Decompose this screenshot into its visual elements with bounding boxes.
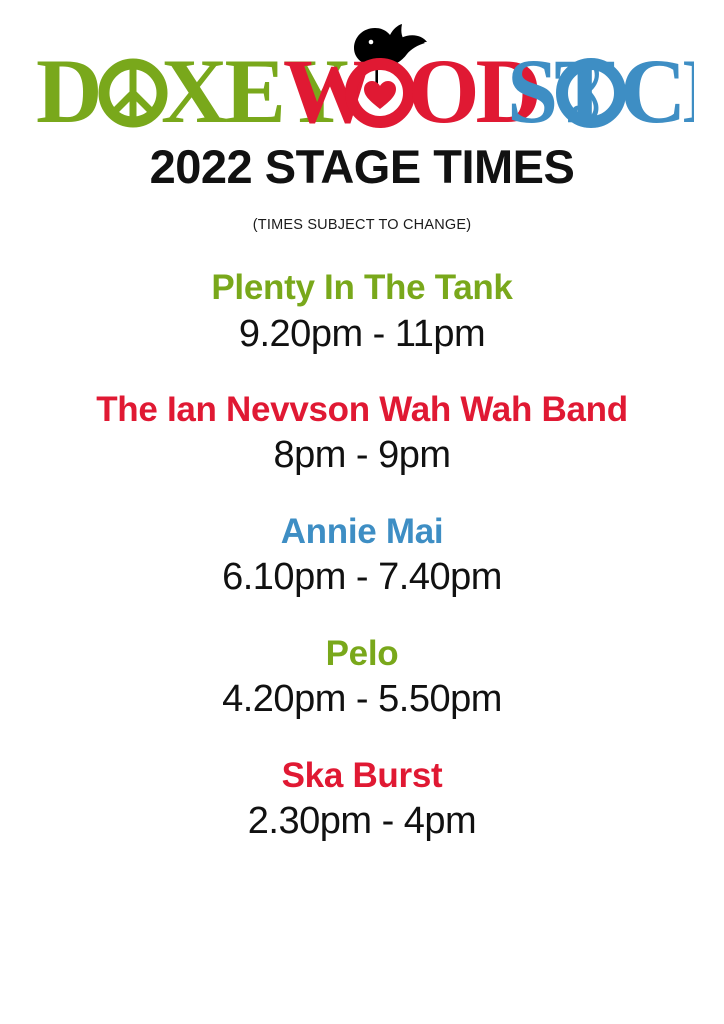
peace-symbol-icon [104, 64, 162, 122]
act-time: 6.10pm - 7.40pm [0, 554, 724, 602]
poster-canvas: D XEY W OD [0, 0, 724, 1024]
list-item: Annie Mai 6.10pm - 7.40pm [0, 511, 724, 602]
logo-doxey-text: D [36, 40, 100, 130]
logo-word-wood: W OD [283, 40, 538, 130]
page-title: 2022 STAGE TIMES [0, 142, 724, 191]
logo-word-stock: ST CK [507, 40, 694, 130]
act-name: Pelo [0, 633, 724, 674]
act-name: Annie Mai [0, 511, 724, 552]
act-time: 8pm - 9pm [0, 432, 724, 480]
list-item: Ska Burst 2.30pm - 4pm [0, 755, 724, 846]
list-item: The Ian Nevvson Wah Wah Band 8pm - 9pm [0, 389, 724, 480]
act-name: Ska Burst [0, 755, 724, 796]
times-disclaimer: (TIMES SUBJECT TO CHANGE) [0, 217, 724, 233]
list-item: Plenty In The Tank 9.20pm - 11pm [0, 267, 724, 358]
list-item: Pelo 4.20pm - 5.50pm [0, 633, 724, 724]
act-name: Plenty In The Tank [0, 267, 724, 308]
act-name: The Ian Nevvson Wah Wah Band [0, 389, 724, 430]
act-time: 9.20pm - 11pm [0, 311, 724, 359]
stage-times-list: Plenty In The Tank 9.20pm - 11pm The Ian… [0, 267, 724, 845]
act-time: 2.30pm - 4pm [0, 798, 724, 846]
logo-artwork: D XEY W OD [30, 18, 694, 130]
act-time: 4.20pm - 5.50pm [0, 676, 724, 724]
logo-ck-text: CK [620, 40, 694, 130]
festival-logo: D XEY W OD [0, 0, 724, 130]
